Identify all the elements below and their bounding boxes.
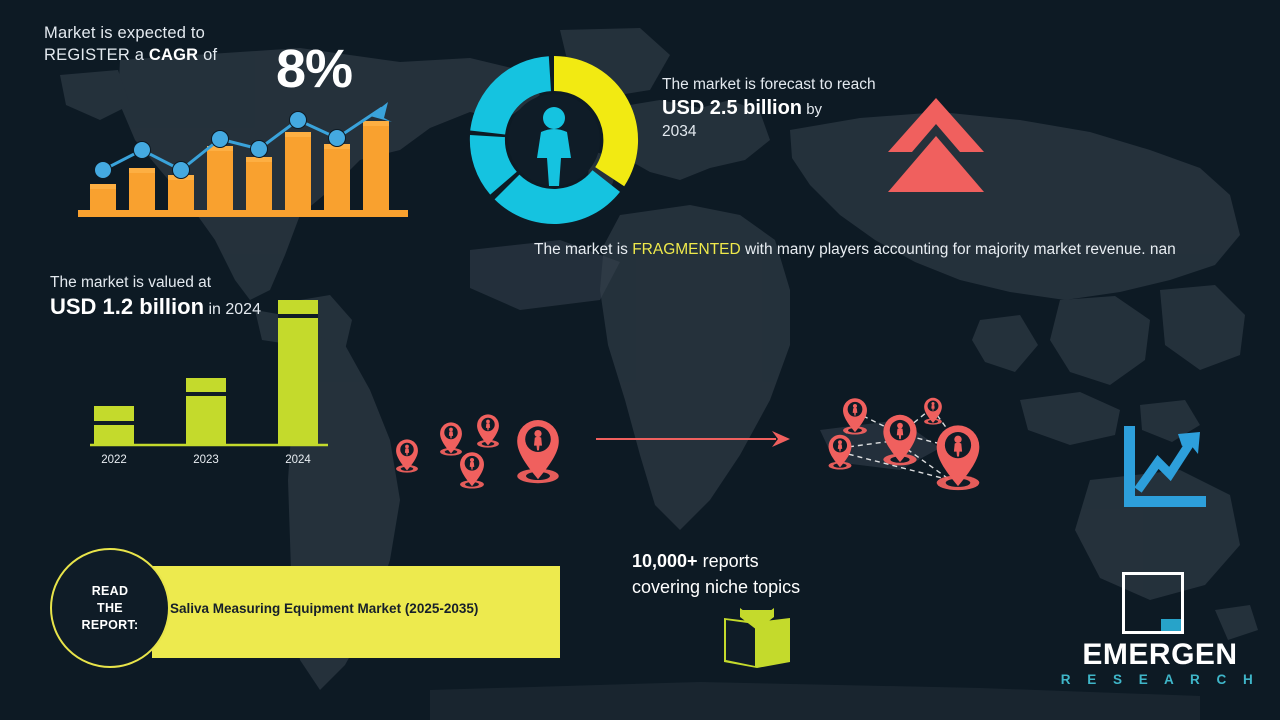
map-pin-icon <box>460 452 484 488</box>
logo-mark-accent <box>1161 619 1181 631</box>
valued-label: The market is valued at <box>50 272 370 294</box>
read-line-2: THE <box>82 600 139 617</box>
logo-mark-icon <box>1122 572 1184 634</box>
map-pin-icon <box>843 398 867 434</box>
forecast-value: USD 2.5 billion <box>662 97 802 119</box>
double-chevron-up-icon <box>884 96 988 194</box>
map-pin-icon <box>517 420 559 483</box>
market-share-donut-chart <box>466 52 642 228</box>
map-pin-icon <box>937 425 980 490</box>
reports-line-2: covering niche topics <box>632 574 892 600</box>
map-pin-cluster-right <box>800 382 1015 504</box>
green-tick-2023: 2023 <box>193 454 219 466</box>
cagr-line2-pre: REGISTER a <box>44 46 149 64</box>
forecast-label: The market is forecast to reach <box>662 74 902 95</box>
cagr-block: Market is expected to REGISTER a CAGR of… <box>44 22 464 66</box>
cagr-line2-post: of <box>198 46 217 64</box>
fragmented-statement: The market is FRAGMENTED with many playe… <box>534 238 1224 261</box>
map-pin-icon <box>924 398 942 425</box>
green-tick-2022: 2022 <box>101 454 127 466</box>
read-line-1: READ <box>82 583 139 600</box>
cagr-line2: REGISTER a CAGR of <box>44 44 464 66</box>
cagr-line1: Market is expected to <box>44 22 464 44</box>
map-pin-cluster-left <box>380 388 580 498</box>
report-title[interactable]: Saliva Measuring Equipment Market (2025-… <box>170 601 560 616</box>
market-value-bar-chart: 2022 2023 2024 <box>80 296 335 474</box>
reports-count-block: 10,000+ reports covering niche topics <box>632 548 892 600</box>
frag-highlight: FRAGMENTED <box>632 241 741 258</box>
line-chart-icon <box>1118 424 1206 512</box>
green-tick-2024: 2024 <box>285 454 311 466</box>
chart-baseline <box>78 210 408 217</box>
forecast-block: The market is forecast to reach USD 2.5 … <box>662 74 902 142</box>
logo-name: EMERGEN <box>1060 638 1260 672</box>
frag-post: with many players accounting for majorit… <box>741 241 1176 258</box>
logo-subtitle: R E S E A R C H <box>1060 672 1260 687</box>
read-report-badge-label: READ THE REPORT: <box>82 583 139 634</box>
forecast-by-word: by <box>802 101 822 118</box>
frag-pre: The market is <box>534 241 632 258</box>
open-book-icon <box>718 608 796 670</box>
map-pin-icon <box>829 435 852 470</box>
infographic-canvas: Market is expected to REGISTER a CAGR of… <box>0 0 1280 720</box>
map-pin-icon <box>883 415 916 466</box>
reports-count-suffix: reports <box>698 551 759 571</box>
growth-trend-bar-chart <box>70 86 415 218</box>
read-line-3: REPORT: <box>82 617 139 634</box>
right-arrow-icon <box>594 428 794 450</box>
map-pin-icon <box>477 414 499 447</box>
map-pin-icon <box>396 439 418 472</box>
emergen-research-logo: EMERGEN R E S E A R C H <box>1060 572 1260 694</box>
read-report-badge[interactable]: READ THE REPORT: <box>50 548 170 668</box>
forecast-year: 2034 <box>662 121 902 142</box>
cagr-keyword: CAGR <box>149 46 198 64</box>
reports-count-value: 10,000+ <box>632 551 698 571</box>
forecast-value-row: USD 2.5 billion by <box>662 95 902 121</box>
reports-line-1: 10,000+ reports <box>632 548 892 574</box>
map-pin-icon <box>440 422 462 455</box>
